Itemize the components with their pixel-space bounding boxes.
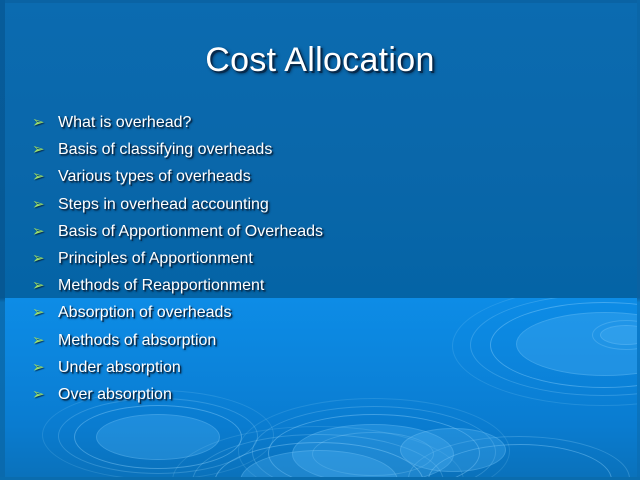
bullet-list-item: ➢Under absorption [32, 356, 592, 383]
arrowhead-bullet-icon: ➢ [32, 193, 58, 217]
bullet-item-label: What is overhead? [58, 111, 191, 135]
bullet-item-label: Methods of absorption [58, 329, 216, 353]
bullet-list-item: ➢Various types of overheads [32, 165, 592, 192]
arrowhead-bullet-icon: ➢ [32, 356, 58, 380]
bullet-list-item: ➢Methods of Reapportionment [32, 274, 592, 301]
bullet-list-item: ➢Methods of absorption [32, 329, 592, 356]
bullet-list-item: ➢Absorption of overheads [32, 301, 592, 328]
bullet-item-label: Steps in overhead accounting [58, 193, 269, 217]
arrowhead-bullet-icon: ➢ [32, 247, 58, 271]
arrowhead-bullet-icon: ➢ [32, 165, 58, 189]
arrowhead-bullet-icon: ➢ [32, 220, 58, 244]
arrowhead-bullet-icon: ➢ [32, 111, 58, 135]
arrowhead-bullet-icon: ➢ [32, 301, 58, 325]
bullet-item-label: Basis of classifying overheads [58, 138, 272, 162]
arrowhead-bullet-icon: ➢ [32, 138, 58, 162]
bullet-item-label: Various types of overheads [58, 165, 251, 189]
bullet-list-item: ➢Steps in overhead accounting [32, 193, 592, 220]
slide-title: Cost Allocation [0, 38, 640, 82]
bullet-item-label: Under absorption [58, 356, 181, 380]
bullet-list-item: ➢Over absorption [32, 383, 592, 410]
bullet-item-label: Over absorption [58, 383, 172, 407]
bullet-list: ➢What is overhead?➢Basis of classifying … [32, 111, 592, 410]
slide-left-border [0, 0, 5, 480]
arrowhead-bullet-icon: ➢ [32, 383, 58, 407]
bullet-list-item: ➢Basis of classifying overheads [32, 138, 592, 165]
bullet-item-label: Basis of Apportionment of Overheads [58, 220, 323, 244]
bullet-item-label: Absorption of overheads [58, 301, 231, 325]
bullet-item-label: Principles of Apportionment [58, 247, 253, 271]
presentation-slide: Cost Allocation ➢What is overhead?➢Basis… [0, 0, 640, 480]
arrowhead-bullet-icon: ➢ [32, 274, 58, 298]
bullet-list-item: ➢What is overhead? [32, 111, 592, 138]
arrowhead-bullet-icon: ➢ [32, 329, 58, 353]
slide-top-border [0, 0, 640, 3]
bullet-list-item: ➢Basis of Apportionment of Overheads [32, 220, 592, 247]
bullet-list-item: ➢Principles of Apportionment [32, 247, 592, 274]
bullet-item-label: Methods of Reapportionment [58, 274, 264, 298]
